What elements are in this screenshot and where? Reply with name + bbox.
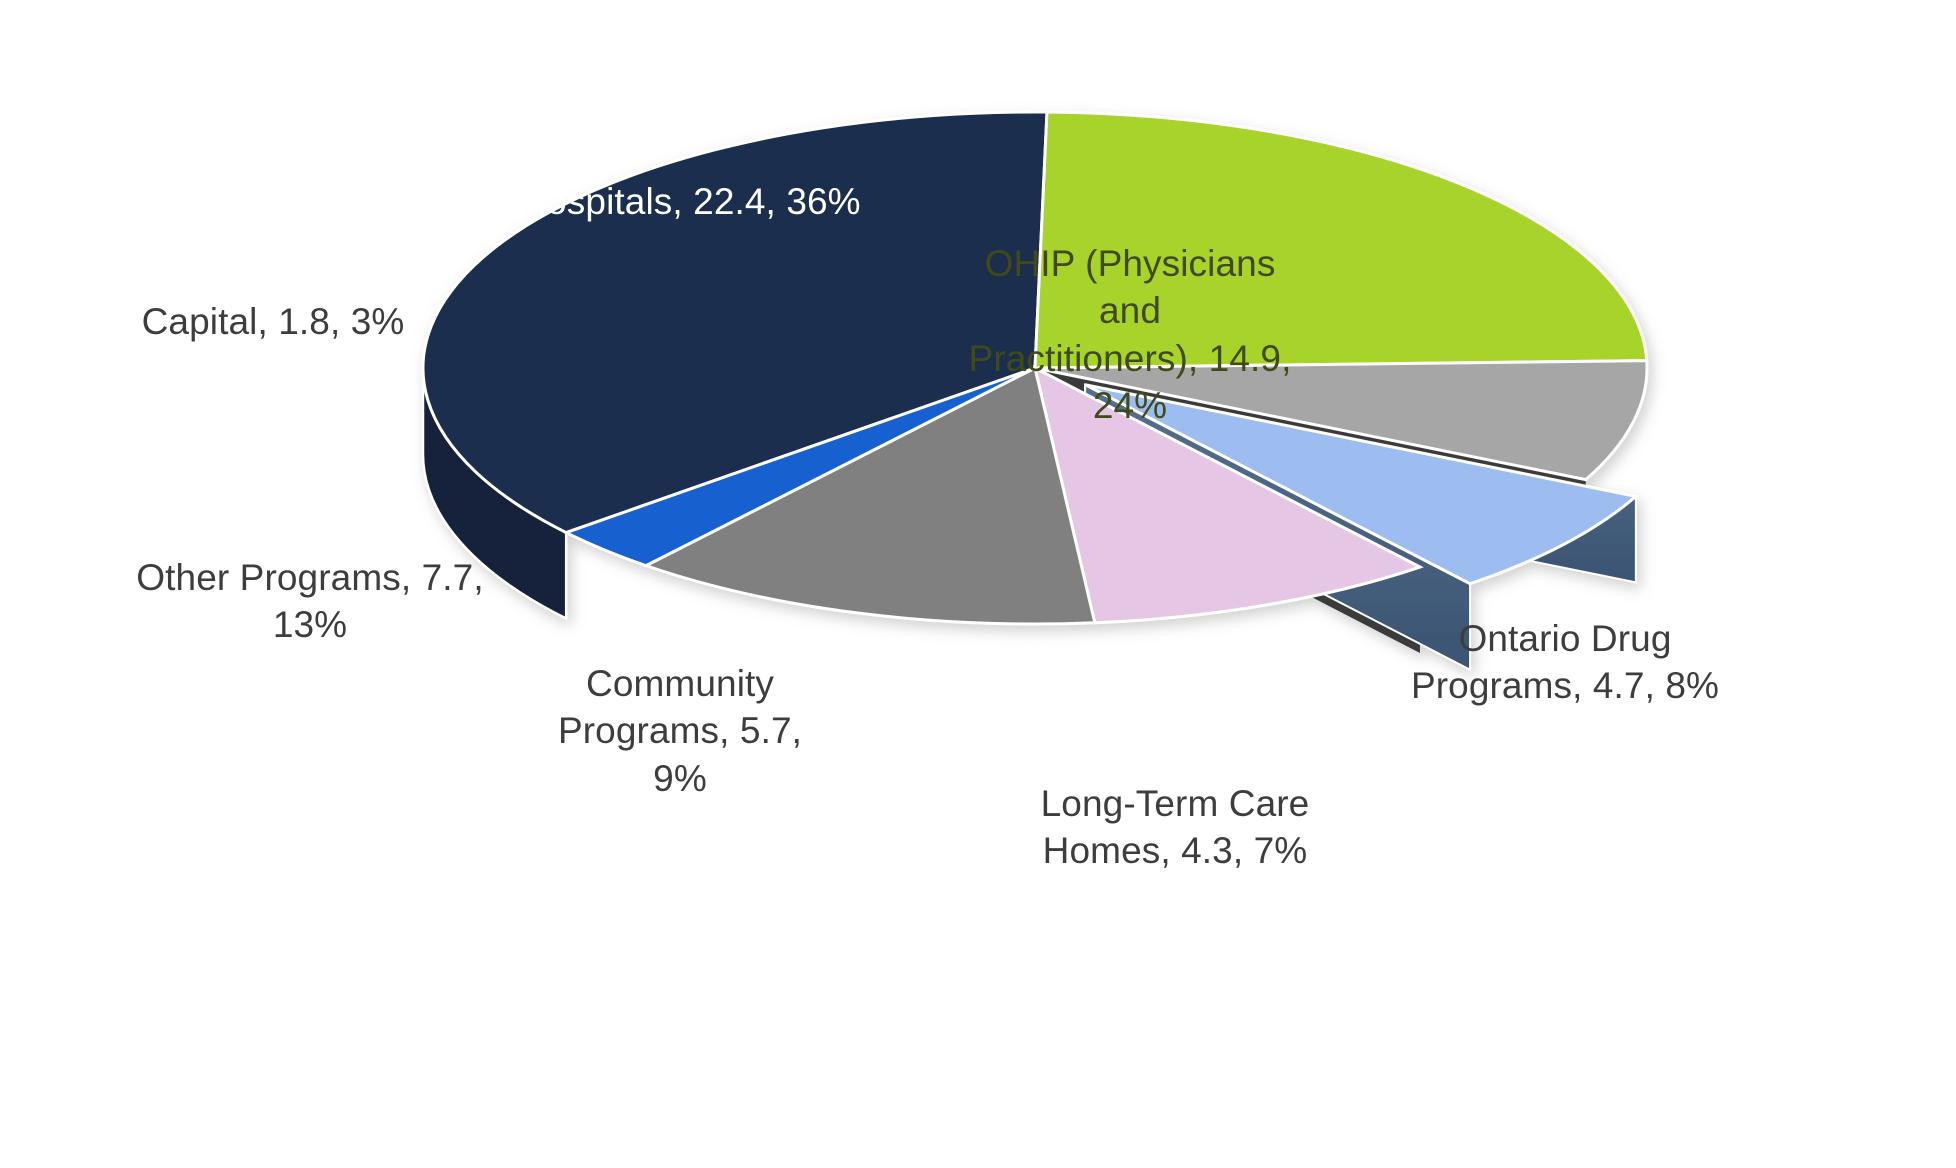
pie-chart: Hospitals, 22.4, 36% OHIP (Physicians an… [0,0,1956,1168]
pie-chart-graphic [0,0,1956,1168]
pie-slice-ohip-physicians-and-practitioners [1035,112,1647,368]
